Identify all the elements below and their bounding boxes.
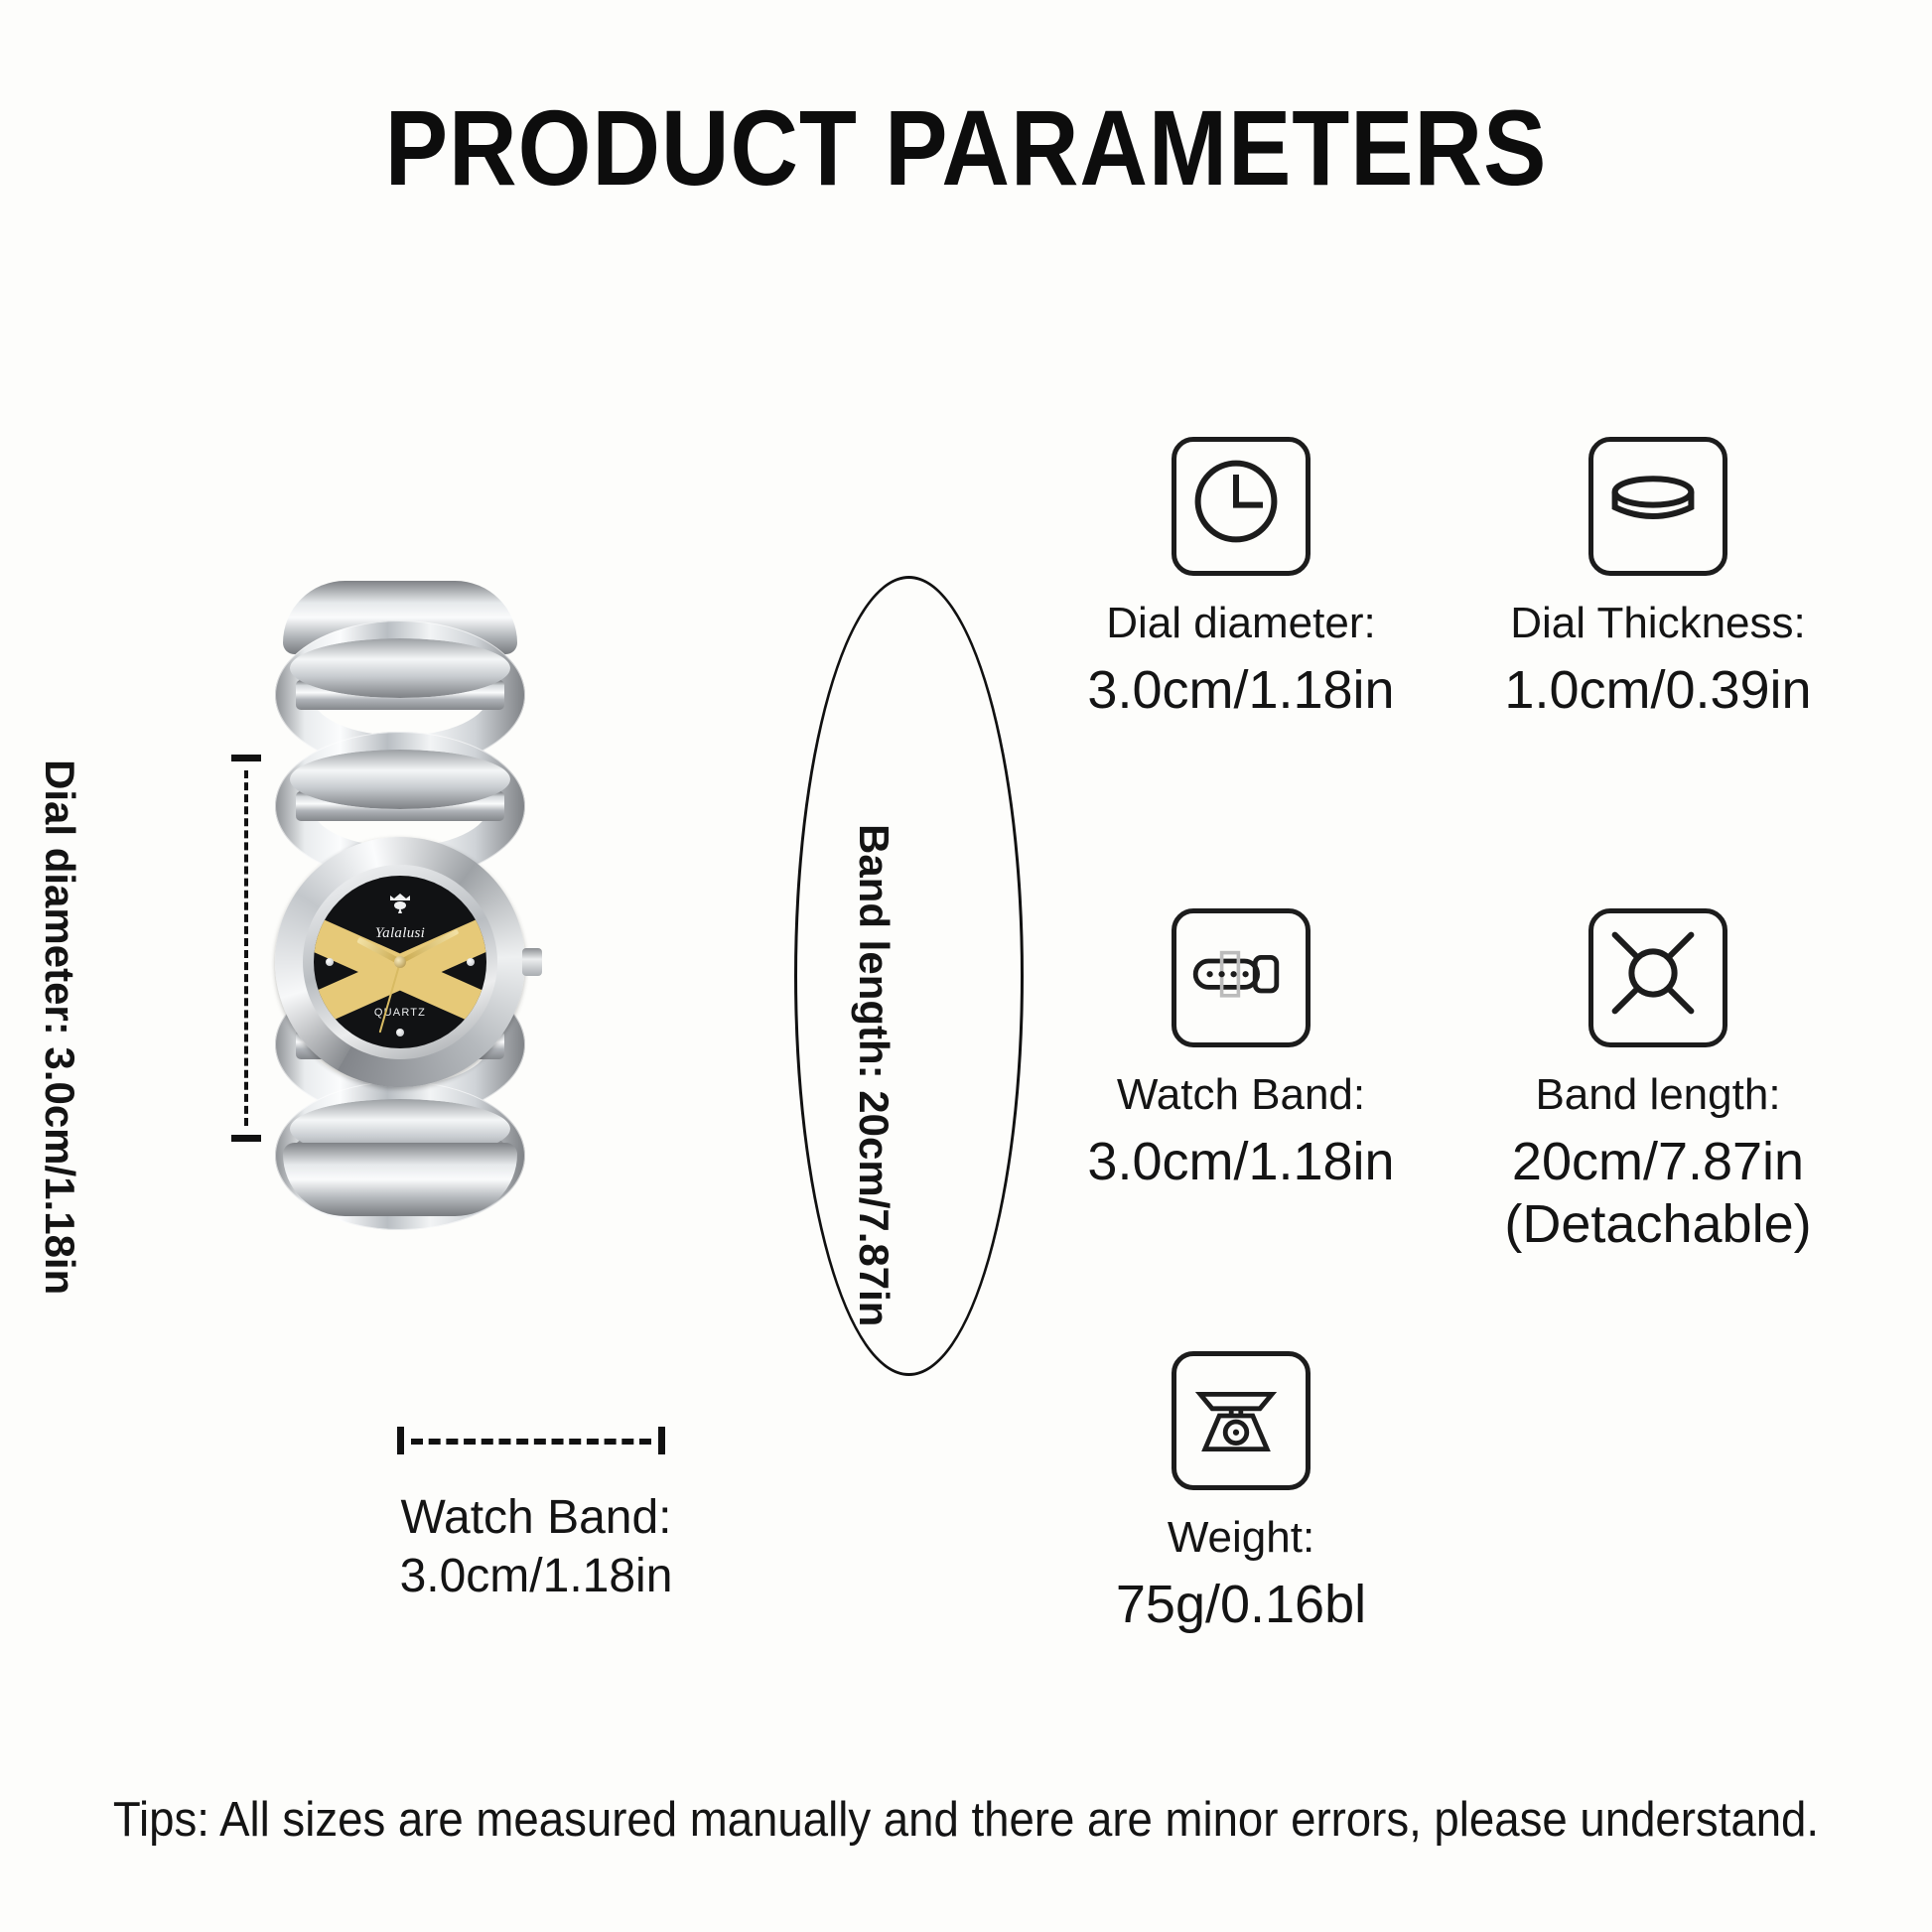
spec-value: 20cm/7.87in (Detachable)	[1504, 1131, 1811, 1255]
spec-title: Dial diameter:	[1106, 600, 1375, 647]
spec-value-main: 20cm/7.87in	[1512, 1132, 1804, 1191]
spec-watch-band: Watch Band: 3.0cm/1.18in	[1033, 908, 1449, 1256]
spec-dial-thickness: Dial Thickness: 1.0cm/0.39in	[1449, 437, 1866, 722]
band-length-ellipse	[794, 576, 1024, 1376]
dial-marker-6	[396, 1029, 404, 1036]
disc-thickness-icon	[1588, 437, 1727, 576]
spec-weight: Weight: 75g/0.16bl	[1033, 1351, 1449, 1636]
spec-band-length: Band length: 20cm/7.87in (Detachable)	[1449, 908, 1866, 1256]
specs-row-3: Weight: 75g/0.16bl	[1033, 1351, 1866, 1636]
page-title: PRODUCT PARAMETERS	[116, 85, 1816, 209]
watch-strap-icon	[1172, 908, 1311, 1047]
infographic-page: PRODUCT PARAMETERS Dial diameter: 3.0cm/…	[0, 0, 1932, 1932]
dial-brand-name: Yalalusi	[375, 925, 425, 942]
spec-title: Weight:	[1168, 1514, 1314, 1562]
dimension-cap-left	[397, 1427, 404, 1454]
spec-value-sub: (Detachable)	[1504, 1193, 1811, 1256]
weight-scale-icon	[1172, 1351, 1311, 1490]
watch-case: Yalalusi QUARTZ	[275, 837, 525, 1087]
specs-row-1: Dial diameter: 3.0cm/1.18in Dial Thickne…	[1033, 437, 1866, 722]
dimension-cap-right	[658, 1427, 665, 1454]
bracelet-endcap-bottom	[283, 1143, 517, 1216]
band-length-ellipse-label: Band length: 20cm/7.87in	[849, 824, 898, 1326]
bracelet-lens-2	[290, 750, 510, 809]
watch-dial: Yalalusi QUARTZ	[314, 876, 486, 1048]
tips-note: Tips: All sizes are measured manually an…	[68, 1792, 1864, 1848]
dial-marker-9	[326, 958, 334, 966]
bracelet-lens-1	[290, 638, 510, 698]
specs-row-2: Watch Band: 3.0cm/1.18in Band length: 20…	[1033, 908, 1866, 1256]
spec-value: 75g/0.16bl	[1116, 1574, 1366, 1636]
spec-value: 3.0cm/1.18in	[1087, 1131, 1394, 1193]
spec-title: Band length:	[1535, 1071, 1780, 1119]
watch-band-label-value: 3.0cm/1.18in	[258, 1548, 814, 1606]
dial-movement-text: QUARTZ	[374, 1007, 426, 1019]
watch-product-image: Yalalusi QUARTZ	[236, 581, 564, 1216]
watch-crown-button	[522, 948, 542, 976]
dimension-dashed-line-horizontal	[411, 1439, 651, 1445]
watch-band-label: Watch Band: 3.0cm/1.18in	[258, 1489, 814, 1605]
spec-title: Dial Thickness:	[1510, 600, 1806, 647]
spec-title: Watch Band:	[1117, 1071, 1365, 1119]
watch-band-label-title: Watch Band:	[258, 1489, 814, 1548]
crown-logo-icon	[387, 892, 413, 913]
spec-value: 3.0cm/1.18in	[1087, 659, 1394, 722]
watch-band-dimension-line	[397, 1437, 665, 1445]
clock-icon	[1172, 437, 1311, 576]
specs-grid: Dial diameter: 3.0cm/1.18in Dial Thickne…	[1033, 437, 1866, 1636]
dial-marker-3	[467, 958, 475, 966]
band-length-icon	[1588, 908, 1727, 1047]
spec-value: 1.0cm/0.39in	[1504, 659, 1811, 722]
dial-diameter-vertical-label: Dial diameter: 3.0cm/1.18in	[35, 759, 83, 1147]
dial-center-pin	[394, 956, 406, 968]
spec-dial-diameter: Dial diameter: 3.0cm/1.18in	[1033, 437, 1449, 722]
